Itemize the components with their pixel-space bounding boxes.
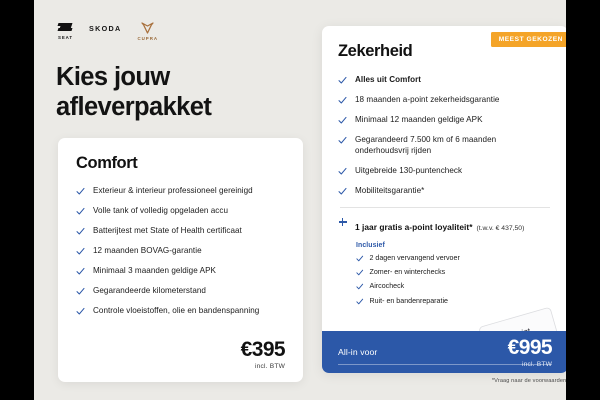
comfort-price-note: incl. BTW	[241, 363, 285, 370]
list-item: Uitgebreide 130-puntencheck	[338, 165, 552, 176]
feature-text: Exterieur & interieur professioneel gere…	[93, 185, 253, 196]
cupra-logo: CUPRA	[137, 22, 158, 41]
check-icon	[76, 307, 85, 316]
list-item: Minimaal 3 maanden geldige APK	[76, 265, 285, 276]
feature-text: 18 maanden a-point zekerheidsgarantie	[355, 94, 500, 105]
list-item: Minimaal 12 maanden geldige APK	[338, 114, 552, 125]
loyalty-title: 1 jaar gratis a-point loyaliteit*	[355, 222, 472, 232]
allin-price: €995	[508, 337, 552, 358]
check-icon	[338, 167, 347, 176]
feature-text: Gegarandeerd 7.500 km of 6 maanden onder…	[355, 134, 552, 157]
check-icon	[76, 287, 85, 296]
list-item: Gegarandeerde kilometerstand	[76, 285, 285, 296]
feature-text: Alles uit Comfort	[355, 74, 421, 85]
list-item: Gegarandeerd 7.500 km of 6 maanden onder…	[338, 134, 552, 157]
divider	[338, 364, 552, 365]
divider	[340, 207, 550, 208]
list-item: Ruit- en bandenreparatie	[356, 297, 552, 306]
slide-stage: SEAT SKODA CUPRA Kies jouw afleverpakket…	[0, 0, 600, 400]
check-icon	[76, 267, 85, 276]
feature-text: Mobiliteitsgarantie*	[355, 185, 424, 196]
check-icon	[356, 283, 364, 291]
slide-canvas: SEAT SKODA CUPRA Kies jouw afleverpakket…	[34, 0, 566, 400]
status-badge: MEEST GEKOZEN	[491, 32, 566, 47]
check-icon	[338, 96, 347, 105]
letterbox-bar-left	[0, 0, 34, 400]
skoda-logo: SKODA	[89, 22, 121, 32]
list-item: Exterieur & interieur professioneel gere…	[76, 185, 285, 196]
footnote: *Vraag naar de voorwaarden.	[322, 378, 566, 384]
allin-price-block: €995 incl. BTW	[508, 337, 552, 368]
loyalty-benefit-list: 2 dagen vervangend vervoer Zomer- en win…	[356, 254, 552, 306]
feature-text: Gegarandeerde kilometerstand	[93, 285, 206, 296]
check-icon	[338, 136, 347, 145]
list-item: 2 dagen vervangend vervoer	[356, 254, 552, 263]
check-icon	[76, 207, 85, 216]
check-icon	[76, 227, 85, 236]
feature-text: Minimaal 12 maanden geldige APK	[355, 114, 483, 125]
allin-price-bar[interactable]: All-in voor €995 incl. BTW	[322, 331, 566, 373]
benefit-text: Aircocheck	[370, 282, 405, 291]
comfort-price: €395	[241, 339, 285, 360]
seat-mark-icon	[58, 22, 72, 33]
list-item: Batterijtest met State of Health certifi…	[76, 225, 285, 236]
list-item: Mobiliteitsgarantie*	[338, 185, 552, 196]
feature-text: Uitgebreide 130-puntencheck	[355, 165, 462, 176]
feature-text: Batterijtest met State of Health certifi…	[93, 225, 242, 236]
plus-icon	[338, 218, 347, 227]
list-item: 18 maanden a-point zekerheidsgarantie	[338, 94, 552, 105]
check-icon	[76, 187, 85, 196]
list-item: Zomer- en winterchecks	[356, 268, 552, 277]
loyalty-offer-row: 1 jaar gratis a-point loyaliteit*(t.w.v.…	[338, 217, 552, 235]
benefit-text: Zomer- en winterchecks	[370, 268, 446, 277]
feature-text: Minimaal 3 maanden geldige APK	[93, 265, 216, 276]
cupra-logo-word: CUPRA	[137, 37, 158, 41]
list-item: Aircocheck	[356, 282, 552, 291]
cupra-mark-icon	[141, 22, 154, 34]
feature-text: Volle tank of volledig opgeladen accu	[93, 205, 228, 216]
allin-label: All-in voor	[338, 347, 377, 357]
comfort-card-title: Comfort	[76, 154, 285, 173]
inclusief-label: Inclusief	[356, 242, 552, 249]
feature-text: 12 maanden BOVAG-garantie	[93, 245, 202, 256]
seat-logo-word: SEAT	[58, 36, 73, 40]
list-item: Controle vloeistoffen, olie en bandenspa…	[76, 305, 285, 316]
zekerheid-package-card[interactable]: MEEST GEKOZEN Zekerheid Alles uit Comfor…	[322, 26, 566, 373]
seat-logo: SEAT	[58, 22, 73, 40]
feature-text: Controle vloeistoffen, olie en bandenspa…	[93, 305, 259, 316]
check-icon	[356, 298, 364, 306]
page-title: Kies jouw afleverpakket	[56, 62, 296, 122]
comfort-package-card[interactable]: Comfort Exterieur & interieur profession…	[58, 138, 303, 382]
check-icon	[356, 269, 364, 277]
comfort-price-block: €395 incl. BTW	[241, 339, 285, 370]
letterbox-bar-right	[566, 0, 600, 400]
check-icon	[76, 247, 85, 256]
loyalty-value: (t.w.v. € 437,50)	[476, 225, 524, 232]
check-icon	[338, 116, 347, 125]
zekerheid-feature-list: Alles uit Comfort 18 maanden a-point zek…	[338, 74, 552, 197]
list-item: 12 maanden BOVAG-garantie	[76, 245, 285, 256]
skoda-logo-word: SKODA	[89, 25, 121, 32]
list-item: Alles uit Comfort	[338, 74, 552, 85]
check-icon	[338, 187, 347, 196]
brand-logo-row: SEAT SKODA CUPRA	[58, 22, 158, 41]
benefit-text: Ruit- en bandenreparatie	[370, 297, 448, 306]
comfort-feature-list: Exterieur & interieur professioneel gere…	[76, 185, 285, 316]
check-icon	[356, 255, 364, 263]
list-item: Volle tank of volledig opgeladen accu	[76, 205, 285, 216]
benefit-text: 2 dagen vervangend vervoer	[370, 254, 460, 263]
check-icon	[338, 76, 347, 85]
